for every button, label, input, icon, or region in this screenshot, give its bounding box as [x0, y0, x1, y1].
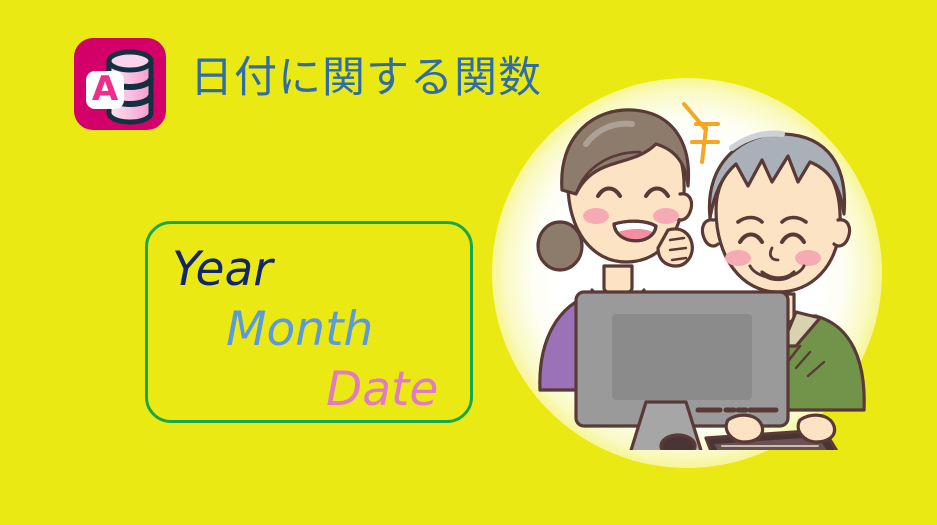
mouse [661, 435, 695, 450]
term-date: Date [326, 366, 438, 413]
two-people-at-computer-illustration [500, 90, 880, 450]
term-month: Month [226, 306, 373, 353]
microsoft-access-icon: A [74, 38, 166, 130]
term-year: Year [172, 246, 273, 293]
sparkle-mark [684, 104, 718, 162]
term-box: Year Month Date [145, 221, 473, 423]
svg-text:A: A [92, 69, 119, 109]
slide-canvas: A 日付に関する関数 Year Month Date [0, 0, 937, 525]
page-title: 日付に関する関数 [190, 52, 542, 104]
letter-a-badge: A [86, 69, 124, 109]
